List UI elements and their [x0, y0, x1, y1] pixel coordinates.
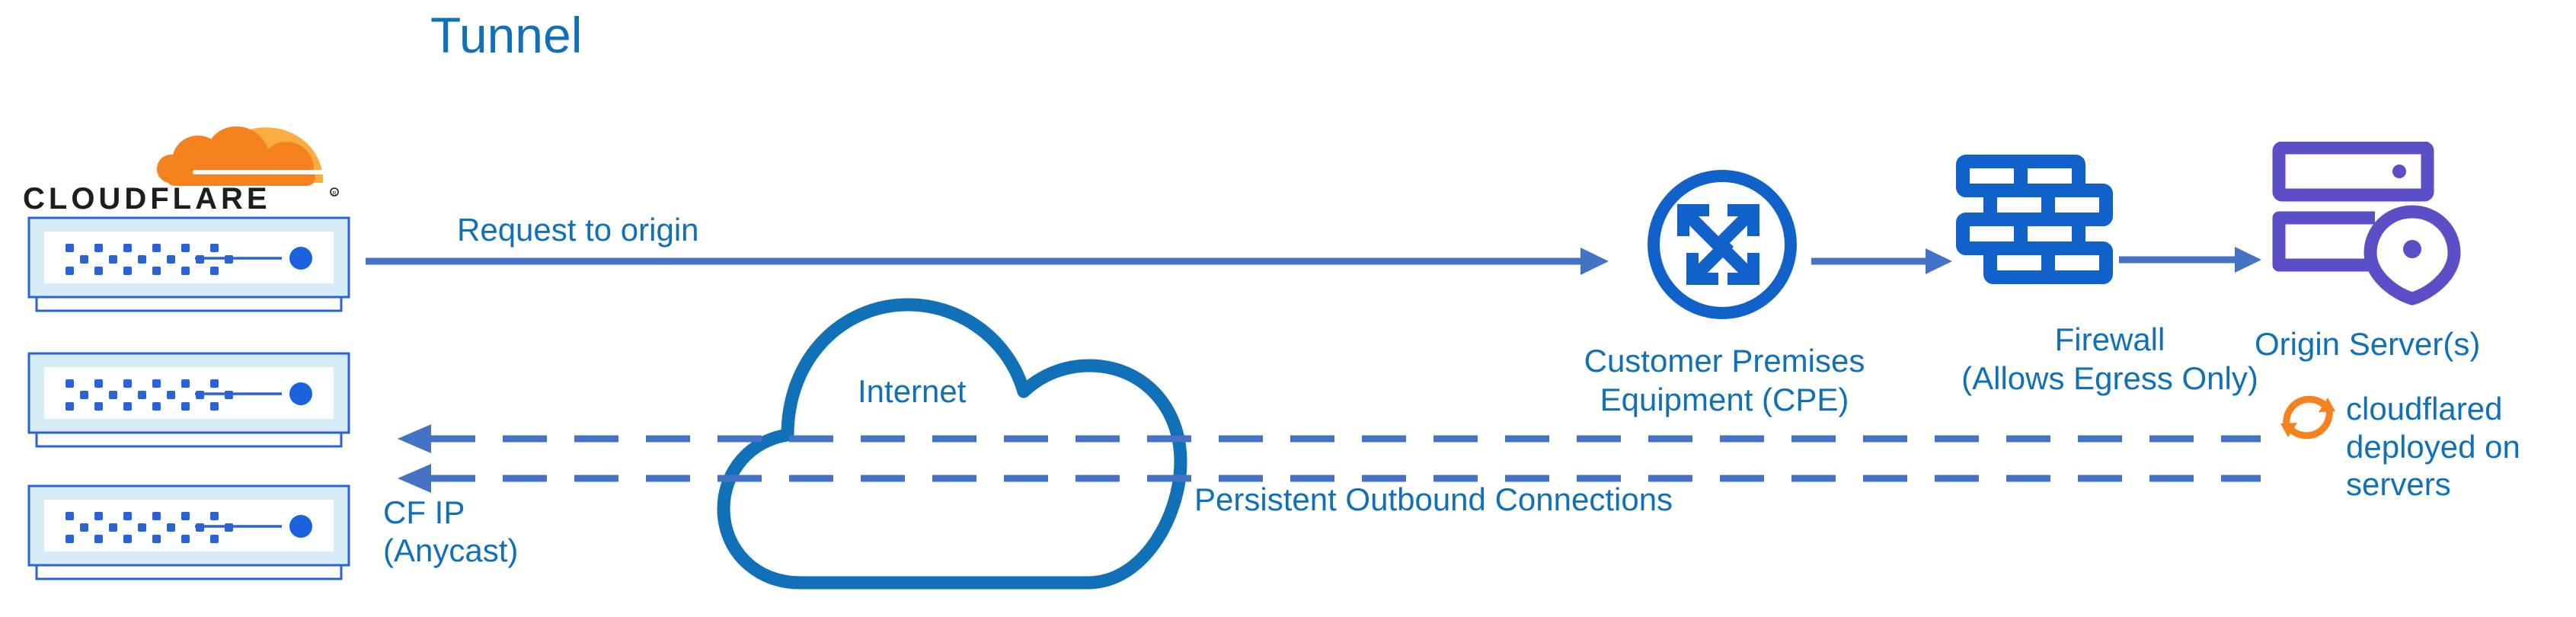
cpe-label-line2: Equipment (CPE): [1600, 382, 1849, 417]
firewall-label: Firewall (Allows Egress Only): [1942, 320, 2277, 398]
cpe-to-firewall-arrow: [1811, 245, 1956, 277]
persistent-outbound-line-1: [396, 424, 2262, 454]
firewall-label-line1: Firewall: [2055, 321, 2165, 357]
cpe-label: Customer Premises Equipment (CPE): [1549, 341, 1900, 419]
cpe-icon: [1644, 166, 1801, 323]
edge-server-unit: [21, 215, 356, 321]
cloudflared-label: cloudflared deployed on servers: [2346, 390, 2520, 504]
diagram-canvas: Tunnel CLOUDFLARE R: [0, 0, 2576, 617]
cloudflare-wordmark: CLOUDFLARE R: [23, 181, 343, 218]
firewall-label-line2: (Allows Egress Only): [1961, 360, 2258, 396]
cf-ip-label-line2: (Anycast): [383, 532, 518, 568]
cf-ip-label: CF IP (Anycast): [383, 494, 518, 569]
sync-refresh-icon: [2271, 381, 2344, 454]
request-to-origin-arrow: [366, 244, 1615, 279]
origin-server-icon: [2271, 142, 2500, 309]
cloudflared-label-line3: servers: [2346, 466, 2451, 502]
persistent-outbound-label: Persistent Outbound Connections: [1194, 481, 1673, 519]
internet-cloud-icon: [708, 236, 1188, 594]
cf-ip-label-line1: CF IP: [383, 494, 465, 530]
firewall-to-origin-arrow: [2119, 244, 2265, 276]
edge-server-unit: [21, 350, 356, 457]
firewall-icon: [1954, 152, 2115, 305]
page-title: Tunnel: [430, 6, 582, 65]
cpe-label-line1: Customer Premises: [1584, 343, 1865, 379]
cloudflared-label-line1: cloudflared: [2346, 391, 2502, 427]
edge-server-unit: [21, 483, 356, 590]
svg-text:R: R: [332, 191, 336, 197]
internet-label: Internet: [858, 373, 966, 411]
origin-servers-label: Origin Server(s): [2255, 326, 2480, 363]
svg-text:CLOUDFLARE: CLOUDFLARE: [23, 182, 271, 216]
cloudflared-label-line2: deployed on: [2346, 429, 2520, 465]
